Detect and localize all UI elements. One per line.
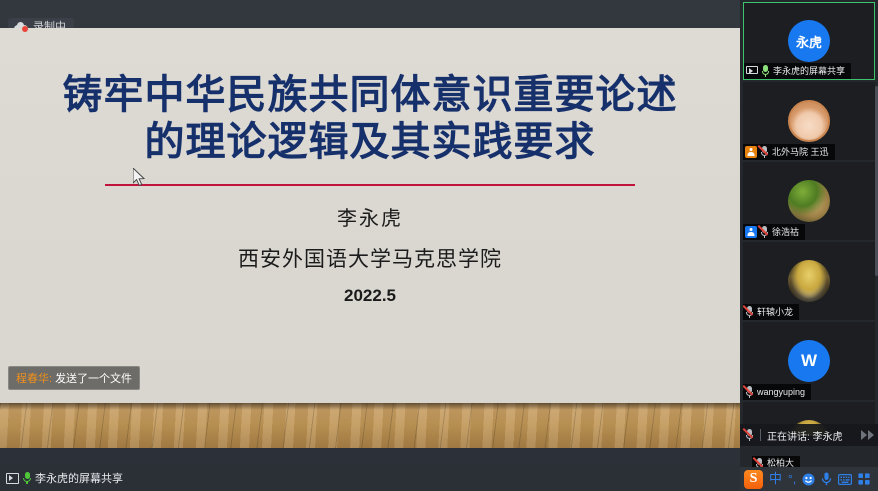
shared-screen-topbar [0, 0, 740, 28]
voice-input-icon[interactable] [821, 472, 832, 486]
active-speaker-label: 正在讲话: 李永虎 [767, 428, 843, 443]
taskbar-item-label: 李永虎的屏幕共享 [35, 470, 123, 486]
divider [760, 429, 761, 441]
participant-name: wangyuping [757, 387, 805, 398]
participant-tile-0[interactable]: 永虎 李永虎的屏幕共享 [743, 2, 875, 80]
participant-tile-4[interactable]: W wangyuping [743, 322, 875, 400]
sogou-logo[interactable]: S [744, 470, 763, 489]
participant-nameplate: 北外马院 王迅 [743, 144, 835, 160]
participant-nameplate: 轩辕小龙 [743, 304, 799, 320]
soft-keyboard-icon[interactable] [838, 474, 852, 485]
active-speaker-bar: 正在讲话: 李永虎 [740, 424, 878, 446]
participant-name: 徐浩祜 [772, 227, 799, 238]
shared-screen-filler [0, 448, 740, 465]
slide-date: 2022.5 [344, 286, 396, 306]
chat-notification-toast[interactable]: 程春华: 发送了一个文件 [8, 366, 140, 390]
participant-tile-3[interactable]: 轩辕小龙 [743, 242, 875, 320]
host-badge-icon [745, 146, 757, 158]
sogou-ime-toolbar[interactable]: S 中 °, [740, 467, 878, 491]
participant-strip[interactable]: 永虎 李永虎的屏幕共享 北外马院 王迅 徐浩祜 [740, 0, 878, 467]
taskbar: 李永虎的屏幕共享 [0, 465, 740, 491]
chevron-right-icon[interactable] [861, 430, 874, 440]
participant-name: 轩辕小龙 [757, 307, 793, 318]
mic-muted-icon [760, 146, 769, 158]
presentation-slide[interactable]: 铸牢中华民族共同体意识重要论述的理论逻辑及其实践要求 李永虎 西安外国语大学马克… [0, 28, 740, 403]
ime-punctuation-toggle[interactable]: °, [788, 473, 796, 486]
avatar: 永虎 [788, 20, 830, 62]
chat-toast-sender: 程春华: [16, 370, 52, 386]
screen-share-icon [746, 66, 758, 76]
slide-author: 李永虎 [337, 202, 403, 231]
screen-share-icon [6, 473, 19, 484]
participant-tile-1[interactable]: 北外马院 王迅 [743, 82, 875, 160]
cohost-badge-icon [745, 226, 757, 238]
shared-screen-area[interactable]: 录制中 铸牢中华民族共同体意识重要论述的理论逻辑及其实践要求 李永虎 西安外国语… [0, 0, 740, 465]
slide-divider-rule [105, 184, 635, 186]
participant-name: 李永虎的屏幕共享 [773, 66, 845, 77]
ime-mode-toggle[interactable]: 中 [769, 473, 782, 486]
taskbar-item-screen-share[interactable]: 李永虎的屏幕共享 [0, 470, 123, 486]
avatar [788, 100, 830, 142]
mic-muted-icon [745, 429, 754, 441]
meeting-window: 录制中 铸牢中华民族共同体意识重要论述的理论逻辑及其实践要求 李永虎 西安外国语… [0, 0, 878, 491]
mic-muted-icon [745, 386, 754, 398]
slide-title: 铸牢中华民族共同体意识重要论述的理论逻辑及其实践要求 [60, 72, 680, 166]
participant-nameplate: 徐浩祜 [743, 224, 805, 240]
chat-toast-message: 发送了一个文件 [55, 370, 132, 386]
slide-drop-shadow [0, 403, 740, 410]
mic-icon [761, 65, 770, 77]
slide-organization: 西安外国语大学马克思学院 [238, 243, 502, 273]
emoji-icon[interactable] [802, 473, 815, 486]
participant-name: 北外马院 王迅 [772, 147, 829, 158]
avatar [788, 260, 830, 302]
participant-tile-2[interactable]: 徐浩祜 [743, 162, 875, 240]
toolbox-icon[interactable] [858, 473, 870, 485]
mic-muted-icon [745, 306, 754, 318]
avatar: W [788, 340, 830, 382]
mic-muted-icon [760, 226, 769, 238]
avatar [788, 180, 830, 222]
participant-nameplate: wangyuping [743, 384, 811, 400]
mic-icon [22, 472, 32, 485]
participant-nameplate: 李永虎的屏幕共享 [744, 63, 851, 79]
